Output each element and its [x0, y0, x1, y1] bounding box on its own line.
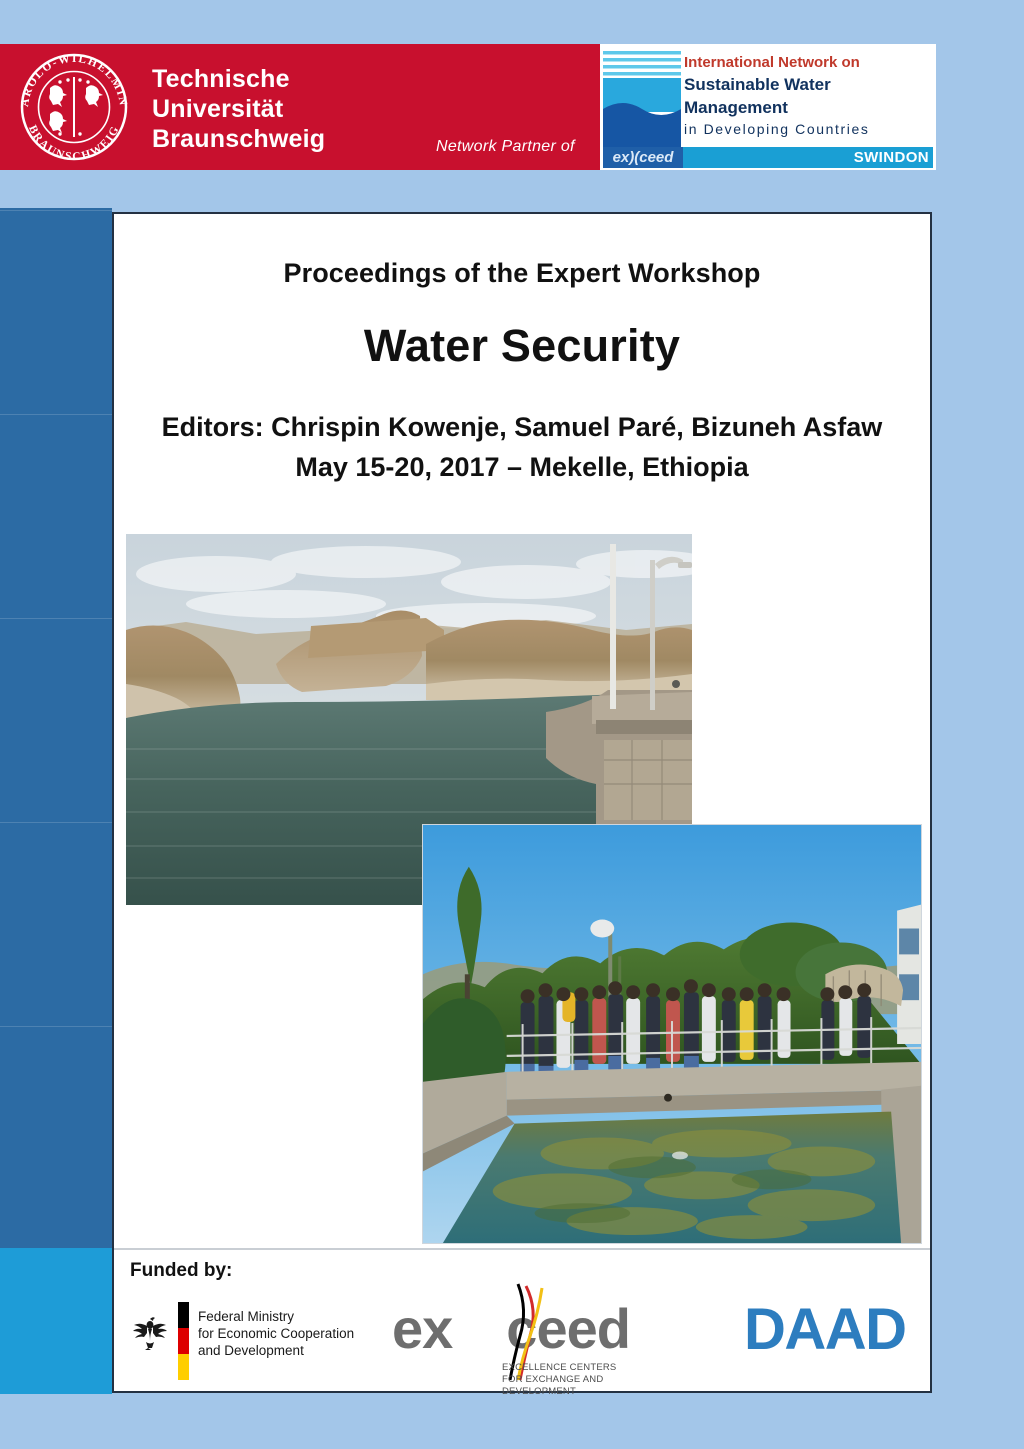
date-location-line: May 15-20, 2017 – Mekelle, Ethiopia — [114, 447, 930, 487]
tu-braunschweig-wordmark: Technische Universität Braunschweig — [152, 64, 325, 154]
svg-text:CAROLO-WILHELMINA: CAROLO-WILHELMINA — [16, 50, 129, 108]
page-title: Water Security — [114, 320, 930, 372]
german-flag-bar — [178, 1302, 189, 1380]
sidebar-divider — [0, 822, 112, 823]
exceed-tagline-line1: EXCELLENCE CENTERS — [502, 1362, 662, 1374]
sidebar-dark-panel — [0, 208, 112, 1248]
swindon-line1: International Network on — [684, 52, 932, 73]
tu-wordmark-line1: Technische — [152, 64, 325, 94]
tu-wordmark-line3: Braunschweig — [152, 124, 325, 154]
federal-eagle-icon — [132, 1312, 168, 1350]
network-partner-label: Network Partner of — [436, 138, 575, 156]
sidebar-divider — [0, 618, 112, 619]
water-treatment-plant-photo — [422, 824, 922, 1244]
swindon-text-block: International Network on Sustainable Wat… — [684, 52, 932, 140]
flag-gold — [178, 1354, 189, 1380]
swindon-line3: in Developing Countries — [684, 119, 932, 140]
daad-logo: DAAD — [744, 1296, 906, 1363]
sidebar-bright-panel — [0, 1248, 112, 1394]
sidebar-divider — [0, 414, 112, 415]
funded-by-label: Funded by: — [130, 1260, 232, 1282]
bmz-text-block: Federal Ministry for Economic Cooperatio… — [198, 1308, 354, 1359]
proceedings-subtitle: Proceedings of the Expert Workshop — [114, 258, 930, 289]
bmz-line1: Federal Ministry — [198, 1308, 354, 1325]
editors-line: Editors: Chrispin Kowenje, Samuel Paré, … — [114, 407, 930, 447]
title-block: Proceedings of the Expert Workshop Water… — [114, 258, 930, 487]
tu-wordmark-line2: Universität — [152, 94, 325, 124]
swindon-bottom-bar: ex)(ceed SWINDON — [603, 147, 933, 168]
footer-divider — [114, 1248, 930, 1250]
bmz-line3: and Development — [198, 1342, 354, 1359]
tu-braunschweig-seal-icon: CAROLO-WILHELMINA BRAUNSCHWEIG — [16, 50, 132, 164]
sidebar-divider — [0, 1026, 112, 1027]
exceed-tagline: EXCELLENCE CENTERS FOR EXCHANGE AND DEVE… — [502, 1362, 662, 1398]
exceed-tag-label: ex)(ceed — [603, 147, 683, 168]
exceed-logo: exceed EXCELLENCE CENTERS FOR EXCHANGE A… — [392, 1282, 662, 1388]
flag-black — [178, 1302, 189, 1328]
exceed-tagline-line2: FOR EXCHANGE AND DEVELOPMENT — [502, 1374, 662, 1398]
swindon-line2: Sustainable Water Management — [684, 73, 932, 119]
bmz-line2: for Economic Cooperation — [198, 1325, 354, 1342]
swindon-acronym: SWINDON — [854, 147, 929, 168]
tu-braunschweig-banner: CAROLO-WILHELMINA BRAUNSCHWEIG Technisch… — [0, 44, 600, 170]
flag-red — [178, 1328, 189, 1354]
cover-page: Proceedings of the Expert Workshop Water… — [112, 212, 932, 1393]
exceed-word-left: ex — [392, 1297, 452, 1360]
header-band: CAROLO-WILHELMINA BRAUNSCHWEIG Technisch… — [0, 44, 1024, 170]
bmz-logo: Federal Ministry for Economic Cooperatio… — [132, 1296, 432, 1382]
daad-wordmark: DAAD — [744, 1296, 906, 1363]
swindon-logo: International Network on Sustainable Wat… — [600, 44, 936, 170]
sidebar-divider — [0, 210, 112, 211]
